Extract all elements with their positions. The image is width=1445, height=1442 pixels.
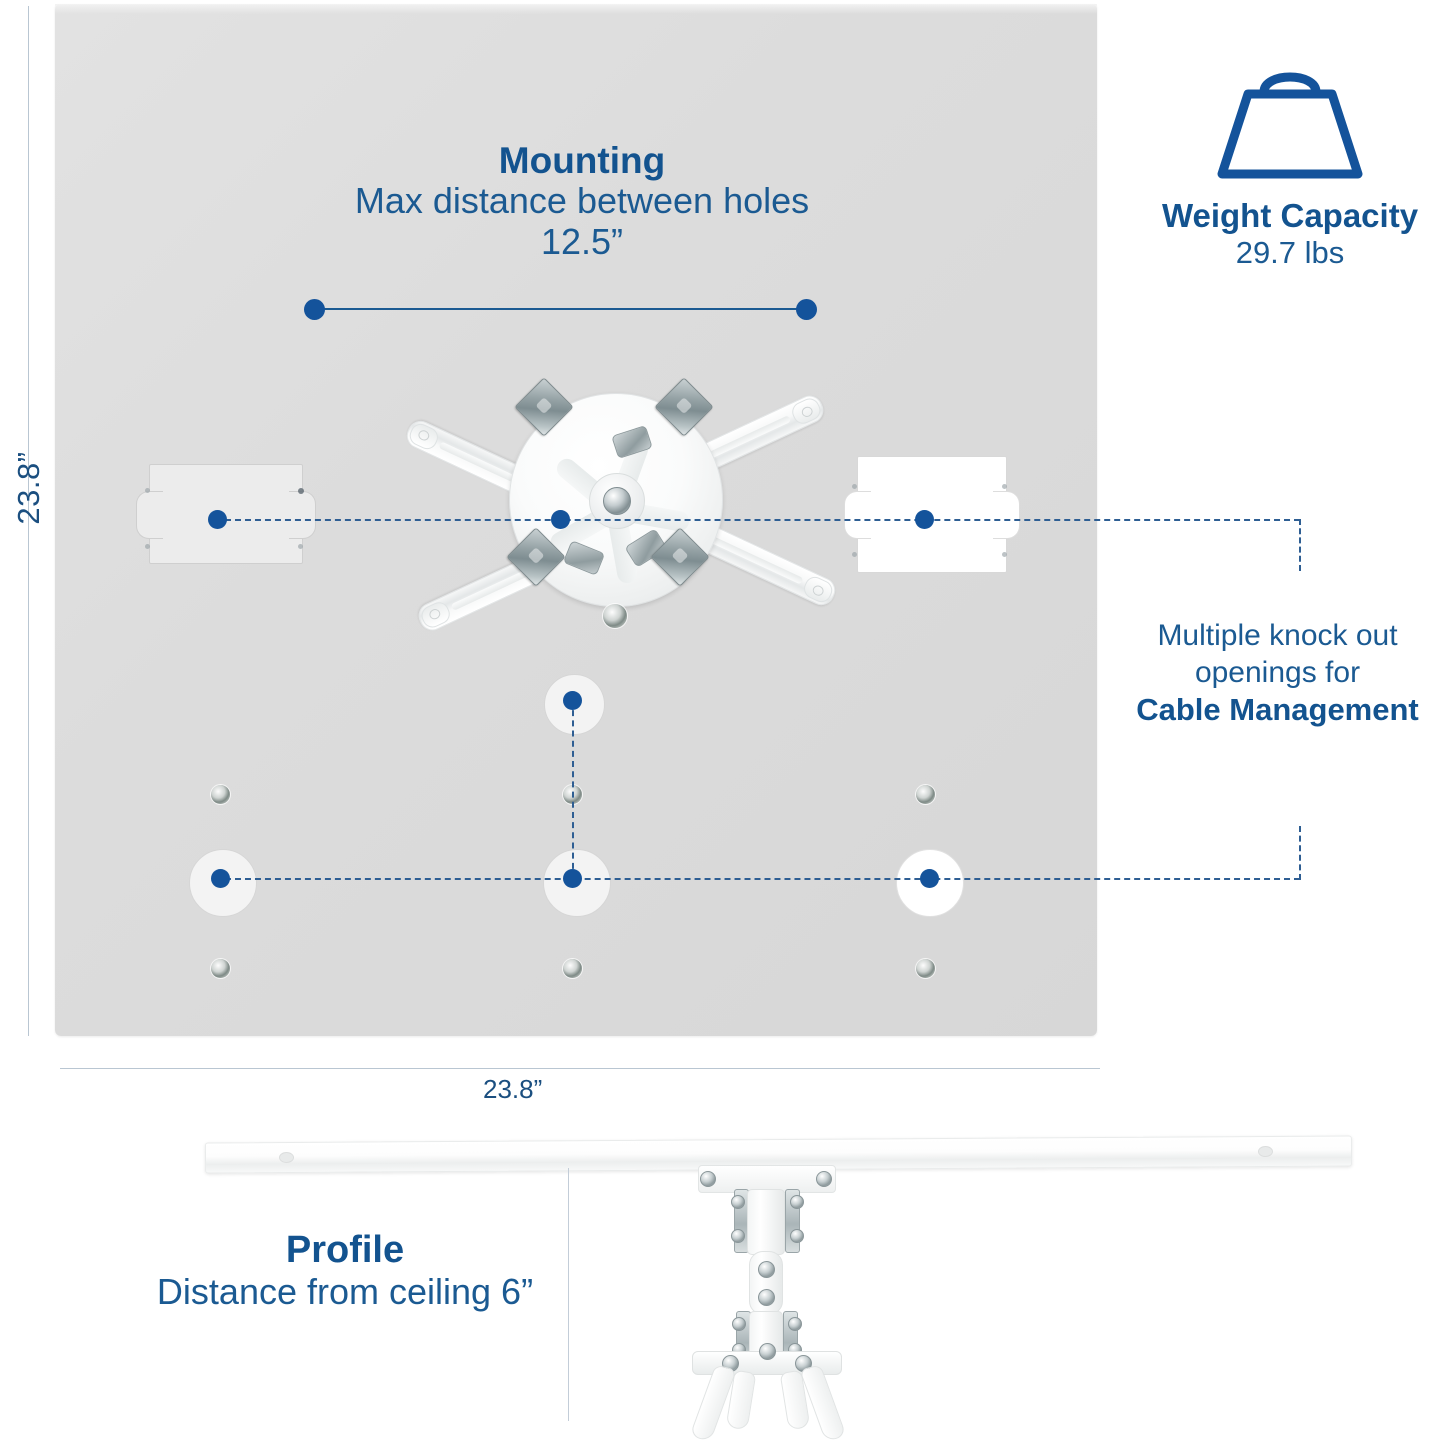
cable-management-line3: Cable Management bbox=[1110, 691, 1445, 729]
upper-bracket-bolt bbox=[790, 1195, 804, 1209]
plate-rivet bbox=[211, 959, 230, 978]
hole-marker-left bbox=[304, 299, 325, 320]
mounting-value: 12.5” bbox=[252, 222, 912, 262]
hub-lower-bolt bbox=[603, 604, 627, 628]
upper-bracket-bolt bbox=[731, 1195, 745, 1209]
pivot-bolt-upper bbox=[758, 1261, 775, 1278]
drop-plate-bolt bbox=[700, 1171, 716, 1187]
marker-left-rect-knockout bbox=[208, 510, 227, 529]
weight-capacity-callout: Weight Capacity 29.7 lbs bbox=[1140, 56, 1440, 271]
weight-icon bbox=[1202, 173, 1378, 190]
mounting-title: Mounting bbox=[252, 140, 912, 181]
plate-rivet bbox=[563, 959, 582, 978]
weight-capacity-value: 29.7 lbs bbox=[1140, 235, 1440, 271]
marker-right-circle bbox=[920, 869, 939, 888]
leader-line-center-vertical bbox=[572, 700, 574, 879]
profile-title: Profile bbox=[95, 1230, 595, 1272]
width-dimension-line bbox=[60, 1068, 1100, 1069]
mounting-callout: Mounting Max distance between holes 12.5… bbox=[252, 140, 912, 262]
hub-center-bolt bbox=[603, 487, 631, 515]
mounting-subtitle: Max distance between holes bbox=[252, 181, 912, 221]
pivot-bolt-lower bbox=[758, 1289, 775, 1306]
leader-line-circular-row-rise bbox=[1299, 826, 1301, 880]
profile-subtitle: Distance from ceiling 6” bbox=[95, 1272, 595, 1312]
knockout-micro-hole bbox=[145, 488, 150, 493]
plate-rivet bbox=[916, 785, 935, 804]
marker-center-circle bbox=[563, 869, 582, 888]
width-dimension-label: 23.8” bbox=[483, 1074, 542, 1105]
hub-tab bbox=[563, 540, 605, 576]
hole-marker-right bbox=[796, 299, 817, 320]
leader-line-knockout-row-drop bbox=[1299, 519, 1301, 571]
marker-hub-center bbox=[551, 510, 570, 529]
cable-management-line2: openings for bbox=[1110, 655, 1445, 692]
drop-column-upper bbox=[747, 1189, 785, 1255]
leader-line-knockout-row bbox=[225, 519, 1300, 521]
upper-bracket-bolt bbox=[790, 1229, 804, 1243]
knockout-micro-hole bbox=[298, 544, 303, 549]
ceiling-bar-hole bbox=[1258, 1146, 1273, 1157]
upper-bracket-bolt bbox=[731, 1229, 745, 1243]
height-dimension-label: 23.8” bbox=[11, 443, 47, 533]
knockout-micro-hole bbox=[1002, 552, 1007, 557]
drop-plate-bolt bbox=[816, 1171, 832, 1187]
marker-right-rect-knockout bbox=[915, 510, 934, 529]
profile-drop-assembly bbox=[686, 1165, 846, 1395]
profile-callout: Profile Distance from ceiling 6” bbox=[95, 1230, 595, 1311]
knockout-micro-hole bbox=[145, 544, 150, 549]
ceiling-bar-hole bbox=[279, 1152, 294, 1163]
plate-rivet bbox=[916, 959, 935, 978]
cable-management-line1: Multiple knock out bbox=[1110, 618, 1445, 655]
spider-mount-assembly bbox=[355, 304, 875, 694]
left-rectangular-knockout[interactable] bbox=[149, 464, 303, 564]
base-center-bolt bbox=[759, 1343, 776, 1360]
leader-line-circular-row bbox=[225, 878, 1300, 880]
weight-capacity-title: Weight Capacity bbox=[1140, 197, 1440, 235]
marker-left-circle bbox=[211, 869, 230, 888]
knockout-micro-hole bbox=[298, 488, 304, 494]
max-hole-distance-line bbox=[313, 308, 805, 310]
marker-top-center-circle bbox=[563, 691, 582, 710]
plate-rivet bbox=[211, 785, 230, 804]
lower-bracket-bolt bbox=[788, 1317, 802, 1331]
cable-management-callout: Multiple knock out openings for Cable Ma… bbox=[1110, 618, 1445, 729]
lower-bracket-bolt bbox=[732, 1317, 746, 1331]
knockout-micro-hole bbox=[1002, 484, 1007, 489]
